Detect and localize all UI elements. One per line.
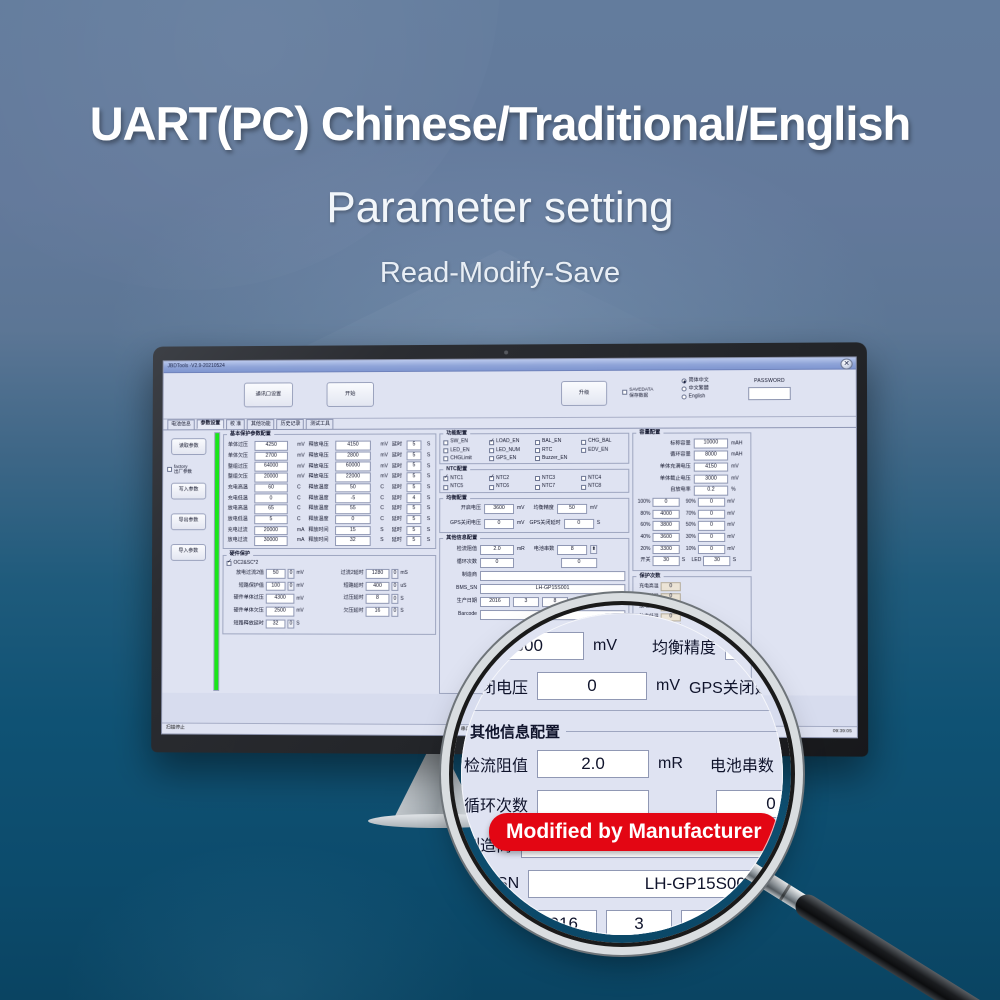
magnified-date-month[interactable]: 3: [606, 910, 672, 938]
release-label: 释放电压: [308, 440, 335, 451]
percent-unit: mV: [727, 523, 735, 528]
factory-label-zh: 出厂参数: [174, 469, 192, 474]
hw-label: 欠压延时: [332, 609, 364, 614]
hw-value[interactable]: 8: [366, 594, 390, 604]
hw-label: 过流2延时: [332, 571, 364, 576]
delay-unit: S: [426, 504, 433, 515]
ntc-checkbox[interactable]: [443, 485, 448, 490]
trip-unit: C: [296, 504, 307, 515]
func-checkbox[interactable]: [489, 440, 494, 445]
hw-spinner[interactable]: 0: [287, 582, 294, 591]
ntc-item-6[interactable]: NTC6: [489, 484, 533, 489]
cycles-value[interactable]: 0: [480, 558, 514, 568]
magnified-series-label: 电池串数: [710, 752, 774, 776]
protect-count-label: 充电低温: [636, 594, 658, 599]
ntc-label: NTC4: [588, 476, 601, 481]
gps-off-delay-value[interactable]: 0: [564, 519, 594, 529]
delay-unit: S: [426, 536, 433, 547]
savedata-label-zh: 保存数据: [629, 393, 648, 398]
trip-value[interactable]: 20000: [254, 473, 287, 482]
hw-label: 放电过流2值: [227, 571, 264, 576]
capacity-row: 自放电率 0.2 %: [636, 486, 747, 496]
background-glow-decoration: [60, 840, 480, 1000]
capacity-row: 单体充满电压 4150 mV: [636, 462, 747, 472]
savedata-checkbox[interactable]: SAVEDATA 保存数据: [622, 387, 653, 399]
hw-spinner[interactable]: 0: [391, 607, 398, 616]
delay-unit: S: [426, 525, 433, 536]
release-value[interactable]: 55: [335, 504, 371, 513]
ntc-item-2[interactable]: NTC2: [489, 476, 533, 481]
row-label: 放电过流: [227, 536, 254, 547]
func-checkbox[interactable]: [443, 456, 448, 461]
hw-label: 硬件单体欠压: [226, 609, 263, 614]
magnified-date-day[interactable]: 8: [681, 910, 747, 938]
release-label: 释放电压: [308, 451, 335, 462]
trip-value[interactable]: 64000: [254, 462, 287, 471]
balance-start-voltage-value[interactable]: 3600: [484, 504, 514, 514]
close-icon[interactable]: ✕: [840, 358, 852, 369]
delay-unit: S: [426, 440, 433, 451]
trip-value[interactable]: 30000: [254, 536, 288, 545]
release-value[interactable]: 22000: [335, 472, 371, 482]
row-label: 放电高温: [227, 504, 254, 515]
language-option-english[interactable]: English: [682, 394, 709, 399]
delay-unit: S: [426, 514, 433, 525]
hw-value[interactable]: 1280: [366, 569, 390, 578]
trip-value[interactable]: 4250: [254, 441, 287, 451]
delay-label: 延时: [391, 525, 406, 536]
ntc-label: NTC1: [450, 476, 463, 481]
ntc-item-4[interactable]: NTC4: [581, 475, 625, 480]
magnified-balance-accuracy[interactable]: 50: [725, 632, 792, 660]
factory-params-checkbox[interactable]: factory 出厂参数: [167, 464, 214, 475]
magnified-gps-row: 关闭电压 0 mV GPS关闭延时 0: [464, 672, 792, 700]
delay-label: 延时: [391, 451, 406, 462]
hw-spinner[interactable]: 0: [391, 569, 398, 578]
magnified-shunt-row: 检流阻值 2.0 mR 电池串数 8 ⬍: [464, 750, 792, 778]
hw-unit: uS: [400, 584, 406, 589]
func-item-chg-bal[interactable]: CHG_BAL: [581, 439, 625, 444]
shunt-label: 检流阻值: [443, 547, 477, 552]
write-params-button[interactable]: 写入参数: [171, 482, 206, 499]
series-value[interactable]: 8: [557, 545, 587, 555]
hw-row: 短路保护值 100 0 mV: [226, 581, 326, 591]
gps-off-voltage-label: GPS关闭电压: [443, 521, 481, 526]
release-unit: mV: [379, 472, 391, 483]
delay-value[interactable]: 5: [407, 440, 422, 449]
delay-value[interactable]: 5: [406, 536, 421, 545]
magnified-content: 均衡配置 3600 mV 均衡精度 50 关闭电压 0 mV GPS关闭延时 0…: [455, 604, 792, 944]
table-row: 充电高温 60 C 释放温度 50 C 延时 5 S: [227, 482, 433, 493]
func-label: LED_NUM: [496, 448, 520, 453]
protect-count-value: 0: [661, 593, 681, 602]
delay-value[interactable]: 5: [406, 483, 421, 492]
status-scan-state: 扫描停止: [162, 726, 260, 732]
tab-battery-info[interactable]: 电池信息: [167, 419, 194, 429]
ntc-item-8[interactable]: NTC8: [581, 484, 625, 489]
delay-value[interactable]: 5: [406, 504, 421, 513]
language-option-traditional[interactable]: 中文繁體: [682, 386, 709, 391]
hw-value[interactable]: 32: [266, 619, 286, 628]
row-label: 充电高温: [227, 483, 254, 494]
release-unit: S: [379, 536, 391, 547]
magnified-balance-voltage[interactable]: 3600: [464, 632, 584, 660]
func-checkbox[interactable]: [535, 456, 540, 461]
magnified-shunt-unit: mR: [658, 755, 683, 773]
percent-unit: mV: [727, 511, 735, 516]
import-params-button[interactable]: 导入参数: [171, 544, 206, 561]
ntc-label: NTC3: [542, 476, 555, 481]
magnified-sn-row: MS_SN LH-GP15S001: [464, 870, 792, 898]
func-checkbox[interactable]: [443, 440, 448, 445]
ntc-item-3[interactable]: NTC3: [535, 476, 579, 481]
sn-label: BMS_SN: [443, 586, 477, 591]
hw-spinner[interactable]: 0: [391, 594, 398, 603]
tab-history[interactable]: 历史记录: [277, 419, 305, 429]
release-label: 释放电压: [307, 472, 334, 483]
magnified-sn-label: MS_SN: [464, 875, 519, 893]
magnified-gps-voltage[interactable]: 0: [537, 672, 647, 700]
func-checkbox[interactable]: [535, 440, 540, 445]
trip-value[interactable]: 0: [254, 494, 288, 503]
delay-value[interactable]: 4: [406, 494, 421, 503]
basic-protection-group: 基本保护参数配置 单体过压 4250 mV 释放电压 4150 mV: [223, 431, 437, 549]
percent-row: 100% 0 90% 0 mV: [636, 498, 747, 508]
func-checkbox[interactable]: [535, 448, 540, 453]
window-title: JBDTools -V2.9-20210524: [168, 364, 225, 369]
trip-unit: C: [296, 514, 307, 525]
trip-value[interactable]: 60: [254, 483, 288, 492]
ntc-label: NTC5: [450, 485, 463, 490]
capacity-value[interactable]: 0.2: [694, 486, 728, 496]
percent-value-right[interactable]: 0: [698, 498, 725, 508]
percent-value-right[interactable]: 0: [698, 545, 725, 555]
headline-block: UART(PC) Chinese/Traditional/English Par…: [0, 96, 1000, 290]
trip-unit: mV: [296, 451, 307, 462]
balance-config-group: 均衡配置 开启电压 3600 mV 均衡精度 50 mV GPS关闭电压 0: [439, 495, 629, 533]
trip-unit: mA: [296, 525, 307, 536]
percent-label-left: 80%: [636, 512, 650, 517]
func-item-buzzer-en[interactable]: Buzzer_EN: [535, 456, 579, 461]
func-item-led-en[interactable]: LED_EN: [443, 448, 487, 453]
balance-start-voltage-unit: mV: [517, 506, 524, 511]
oc2sc2-checkbox-box[interactable]: [227, 561, 232, 566]
func-label: Buzzer_EN: [542, 456, 567, 461]
capacity-label: 单体充满电压: [660, 465, 691, 470]
password-label: PASSWORD: [748, 379, 791, 384]
capacity-value[interactable]: 4150: [694, 462, 728, 472]
ntc-checkbox[interactable]: [581, 484, 586, 489]
hw-label: 硬件单体过压: [226, 596, 263, 601]
percent-label-left: 20%: [636, 547, 650, 552]
hw-value[interactable]: 16: [366, 607, 390, 617]
release-value[interactable]: 0: [335, 515, 371, 524]
delay-label: 延时: [391, 440, 406, 451]
headline-primary: UART(PC) Chinese/Traditional/English: [0, 96, 1000, 151]
capacity-label: 自放电率: [670, 488, 691, 493]
switch-value[interactable]: 30: [653, 556, 680, 566]
cycles-row: 循环次数 0 0: [443, 558, 625, 568]
percent-value-right[interactable]: 0: [698, 521, 725, 531]
delay-unit: S: [426, 450, 433, 461]
led-unit: S: [733, 559, 736, 564]
func-checkbox[interactable]: [489, 456, 494, 461]
magnified-balance-group: 均衡配置 3600 mV 均衡精度 50 关闭电压 0 mV GPS关闭延时 0: [455, 604, 792, 711]
hw-value[interactable]: 4300: [266, 594, 295, 603]
table-row: 放电低温 5 C 释放温度 0 C 延时 5 S: [227, 514, 433, 525]
percent-label-right: 30%: [682, 535, 696, 540]
delay-value[interactable]: 5: [407, 451, 422, 460]
gps-off-delay-unit: S: [597, 521, 600, 526]
capacity-value[interactable]: 8000: [694, 451, 728, 461]
hw-row: 硬件单体欠压 2500 mV: [226, 607, 326, 617]
ntc-checkbox[interactable]: [535, 476, 540, 481]
savedata-checkbox-box[interactable]: [622, 390, 627, 395]
ntc-checkbox[interactable]: [581, 476, 586, 481]
magnified-series-value[interactable]: 8: [783, 750, 792, 778]
led-value[interactable]: 30: [703, 556, 730, 566]
capacity-label: 标称容量: [670, 441, 691, 446]
delay-label: 延时: [391, 514, 406, 525]
basic-protection-title: 基本保护参数配置: [227, 432, 274, 438]
ntc-item-5[interactable]: NTC5: [443, 484, 487, 489]
modified-by-manufacturer-badge: Modified by Manufacturer: [489, 813, 779, 851]
percent-value-left[interactable]: 3300: [653, 545, 680, 555]
func-item-gps-en[interactable]: GPS_EN: [489, 456, 533, 461]
func-item-chglimit[interactable]: CHGLimit: [443, 456, 487, 461]
magnified-gps-voltage-unit: mV: [656, 677, 680, 695]
capacity-unit: %: [731, 488, 747, 493]
func-item-bal-en[interactable]: BAL_EN: [535, 439, 579, 444]
row-label: 放电低温: [227, 515, 254, 526]
cycles-right-value[interactable]: 0: [561, 558, 597, 568]
capacity-config-title: 容量配置: [636, 431, 663, 437]
func-item-led-num[interactable]: LED_NUM: [489, 448, 533, 453]
password-input[interactable]: [748, 387, 791, 400]
language-radio-group: 简体中文 中文繁體 English: [682, 378, 709, 401]
series-spinner[interactable]: ⬍: [590, 545, 597, 555]
balance-accuracy-label: 均衡精度: [534, 506, 554, 511]
release-value[interactable]: 60000: [335, 462, 371, 472]
ntc-checkbox[interactable]: [443, 476, 448, 481]
switch-unit: S: [682, 559, 685, 564]
release-unit: C: [379, 504, 391, 515]
tab-other-functions[interactable]: 其他功能: [247, 419, 275, 429]
delay-value[interactable]: 5: [406, 472, 421, 481]
percent-value-left[interactable]: 3600: [652, 533, 679, 543]
trip-value[interactable]: 5: [254, 515, 288, 524]
row-label: 单体欠压: [227, 451, 254, 462]
ntc-label: NTC2: [496, 476, 509, 481]
oc2sc2-checkbox[interactable]: OC2&SC*2: [227, 561, 433, 566]
hw-unit: S: [400, 609, 403, 614]
magnified-balance-voltage-unit: mV: [593, 637, 617, 655]
delay-unit: S: [426, 461, 433, 472]
func-checkbox[interactable]: [581, 448, 586, 453]
radio-dot-traditional[interactable]: [682, 386, 687, 391]
percent-unit: mV: [727, 500, 735, 505]
savedata-label: SAVEDATA 保存数据: [629, 387, 653, 399]
percent-value-right[interactable]: 0: [698, 509, 725, 519]
row-label: 整组欠压: [227, 472, 254, 483]
shunt-value[interactable]: 2.0: [480, 545, 514, 555]
hw-unit: mV: [296, 609, 303, 614]
radio-dot-english[interactable]: [682, 394, 687, 399]
delay-value[interactable]: 5: [406, 462, 421, 471]
trip-unit: mV: [296, 472, 307, 483]
hw-row: 过流2延时 1280 0 mS: [332, 569, 432, 579]
hw-spinner[interactable]: 0: [391, 582, 398, 591]
hw-value[interactable]: 2500: [266, 607, 295, 617]
func-item-sw-en[interactable]: SW_EN: [443, 440, 487, 445]
balance-start-voltage-row: 开启电压 3600 mV 均衡精度 50 mV: [443, 504, 625, 514]
ntc-checkbox[interactable]: [489, 476, 494, 481]
delay-label: 延时: [391, 472, 406, 483]
radio-dot-simplified[interactable]: [682, 379, 687, 384]
sn-row: BMS_SN LH-GP15S001: [443, 584, 625, 594]
headline-secondary: Parameter setting: [0, 183, 1000, 233]
hw-unit: mV: [296, 571, 303, 576]
percent-value-left[interactable]: 3800: [652, 521, 679, 531]
hw-row: 短路释放延时 32 0 S: [226, 619, 326, 629]
percent-value-left[interactable]: 4000: [652, 509, 679, 519]
func-label: LED_EN: [450, 448, 469, 453]
delay-label: 延时: [391, 461, 406, 472]
sn-value[interactable]: LH-GP15S001: [480, 584, 625, 594]
table-row: 整组过压 64000 mV 释放电压 60000 mV 延时 5 S: [227, 461, 432, 472]
maker-row: 制造商: [443, 571, 625, 581]
capacity-unit: mV: [731, 464, 747, 469]
magnified-shunt-label: 检流阻值: [464, 752, 528, 776]
release-unit: mV: [379, 461, 391, 472]
release-label: 释放时间: [307, 525, 334, 536]
row-label: 单体过压: [227, 440, 254, 451]
start-button[interactable]: 开始: [327, 382, 374, 407]
magnified-balance-voltage-row: 3600 mV 均衡精度 50: [464, 632, 792, 660]
func-item-rtc[interactable]: RTC: [535, 448, 579, 453]
release-label: 释放温度: [307, 493, 334, 504]
trip-value[interactable]: 2700: [254, 451, 287, 461]
percent-unit: mV: [727, 535, 735, 540]
switch-led-row: 开关 30 S LED 30 S: [636, 556, 747, 566]
func-item-edv-en[interactable]: EDV_EN: [581, 447, 625, 452]
trip-value[interactable]: 20000: [254, 526, 288, 535]
table-row: 充电低温 0 C 释放温度 -5 C 延时 4 S: [227, 493, 433, 504]
hw-value[interactable]: 100: [266, 581, 286, 590]
export-params-button[interactable]: 导出参数: [171, 513, 206, 530]
switch-label: 开关: [636, 558, 650, 563]
ntc-checkbox[interactable]: [489, 485, 494, 490]
ntc-label: NTC8: [588, 484, 601, 489]
tab-calibration[interactable]: 校 准: [226, 419, 245, 429]
protect-count-title: 保护次数: [636, 574, 663, 580]
delay-unit: S: [426, 493, 433, 504]
func-label: SW_EN: [450, 440, 468, 445]
ntc-config-group: NTC配置 NTC1 NTC2 NTC3 NTC4 NTC5 NTC6 NTC7…: [439, 467, 629, 493]
percent-value-left[interactable]: 0: [652, 498, 679, 508]
capacity-value[interactable]: 10000: [694, 439, 728, 449]
release-label: 释放温度: [307, 483, 334, 494]
func-item-load-en[interactable]: LOAD_EN: [489, 440, 533, 445]
release-value[interactable]: -5: [335, 494, 371, 503]
delay-unit: S: [426, 482, 433, 493]
upgrade-button[interactable]: 升级: [561, 381, 607, 406]
capacity-value[interactable]: 3000: [694, 474, 728, 484]
read-params-button[interactable]: 读取参数: [171, 438, 206, 455]
hw-row: 放电过流2值 50 0 mV: [226, 569, 326, 579]
release-unit: S: [379, 525, 391, 536]
other-info-title: 其他信息配置: [443, 536, 480, 541]
tab-test-tools[interactable]: 测试工具: [306, 419, 334, 429]
func-label: GPS_EN: [496, 456, 516, 461]
balance-accuracy-value[interactable]: 50: [557, 504, 587, 514]
delay-label: 延时: [391, 504, 406, 515]
language-option-simplified[interactable]: 简体中文: [682, 378, 709, 383]
release-value[interactable]: 2800: [335, 451, 371, 461]
ntc-item-7[interactable]: NTC7: [535, 484, 579, 489]
tab-parameter-settings[interactable]: 参数设置: [197, 419, 224, 429]
hardware-protection-group: 硬件保护 OC2&SC*2 放电过流2值 50 0 mV: [222, 552, 436, 635]
hw-label: 短路释放延时: [226, 621, 263, 626]
ntc-item-1[interactable]: NTC1: [443, 476, 487, 481]
release-value[interactable]: 32: [335, 536, 371, 545]
basic-protection-table: 单体过压 4250 mV 释放电压 4150 mV 延时 5 S: [227, 440, 433, 547]
capacity-label: 循环容量: [670, 453, 691, 458]
release-label: 释放温度: [307, 504, 334, 515]
hw-value[interactable]: 50: [266, 569, 286, 578]
magnified-sn-value[interactable]: LH-GP15S001: [528, 870, 792, 898]
percent-label-left: 100%: [636, 500, 650, 505]
release-unit: C: [379, 482, 391, 493]
release-value[interactable]: 15: [335, 526, 371, 535]
magnified-balance-accuracy-label: 均衡精度: [652, 634, 716, 658]
password-area: PASSWORD: [748, 379, 791, 401]
func-checkbox[interactable]: [489, 448, 494, 453]
gps-off-voltage-value[interactable]: 0: [484, 519, 514, 529]
trip-unit: C: [296, 493, 307, 504]
maker-value[interactable]: [480, 571, 625, 581]
led-label: LED: [687, 559, 701, 564]
trip-value[interactable]: 65: [254, 504, 288, 513]
release-unit: mV: [379, 440, 391, 451]
release-value[interactable]: 4150: [335, 441, 371, 451]
balance-start-voltage-label: 开启电压: [443, 506, 481, 511]
hw-spinner[interactable]: 0: [288, 569, 295, 578]
hw-value[interactable]: 400: [366, 582, 390, 591]
magnified-shunt-value[interactable]: 2.0: [537, 750, 649, 778]
delay-value[interactable]: 5: [406, 515, 421, 524]
percent-value-right[interactable]: 0: [698, 533, 725, 543]
language-label-english: English: [689, 394, 706, 399]
func-label: LOAD_EN: [496, 440, 519, 445]
percent-row: 80% 4000 70% 0 mV: [636, 509, 747, 519]
gps-off-voltage-row: GPS关闭电压 0 mV GPS关闭延时 0 S: [443, 519, 625, 529]
release-value[interactable]: 50: [335, 483, 371, 493]
comm-settings-button[interactable]: 通讯口设置: [244, 382, 293, 407]
factory-checkbox-box[interactable]: [167, 467, 172, 472]
func-checkbox[interactable]: [581, 439, 586, 444]
magnified-date-year[interactable]: 2016: [521, 910, 597, 938]
magnified-gps-voltage-label: 关闭电压: [464, 674, 528, 698]
delay-value[interactable]: 5: [406, 526, 421, 535]
ntc-checkbox[interactable]: [535, 485, 540, 490]
table-row: 单体欠压 2700 mV 释放电压 2800 mV 延时 5 S: [227, 450, 432, 461]
delay-unit: S: [426, 472, 433, 483]
hw-spinner[interactable]: 0: [287, 619, 294, 628]
func-checkbox[interactable]: [443, 448, 448, 453]
row-label: 整组过压: [227, 462, 254, 473]
percent-label-right: 10%: [682, 547, 696, 552]
